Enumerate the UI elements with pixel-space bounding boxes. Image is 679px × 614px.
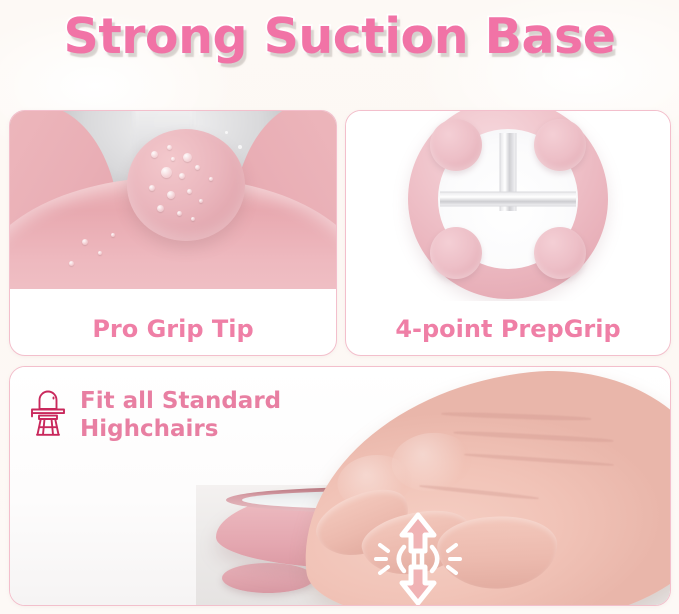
pro-grip-tip-caption: Pro Grip Tip (10, 315, 336, 343)
page-title: Strong Suction Base (0, 0, 679, 72)
suction-foot-left (222, 563, 314, 593)
pro-grip-tip-panel: Pro Grip Tip (9, 110, 337, 356)
highchair-fit-content: Fit all Standard Highchairs (10, 367, 670, 605)
suction-pad-top-left (430, 119, 482, 171)
hand (288, 367, 670, 605)
feature-callout: Fit all Standard Highchairs (28, 387, 281, 443)
support-bar-horizontal (440, 192, 576, 207)
feature-text: Fit all Standard Highchairs (80, 387, 281, 443)
page-title-text: Strong Suction Base (64, 12, 616, 61)
pro-grip-tip-photo (10, 111, 336, 289)
suction-pad-top-right (534, 119, 586, 171)
bowl-base-ring (408, 111, 608, 299)
prep-grip-panel: 4-point PrepGrip (345, 110, 671, 356)
feature-line-2: Highchairs (80, 415, 281, 443)
highchair-fit-panel: Fit all Standard Highchairs (9, 366, 671, 606)
prep-grip-photo (346, 111, 670, 301)
feature-line-1: Fit all Standard (80, 387, 281, 415)
plate-photo (196, 445, 670, 605)
suction-tip (127, 129, 245, 241)
suction-pad-bottom-right (534, 227, 586, 279)
up-down-suction-arrow-icon (366, 507, 470, 605)
prep-grip-caption: 4-point PrepGrip (346, 315, 670, 343)
product-feature-graphic: Strong Suction Base (0, 0, 679, 614)
highchair-icon (28, 389, 68, 437)
suction-pad-bottom-left (430, 227, 482, 279)
